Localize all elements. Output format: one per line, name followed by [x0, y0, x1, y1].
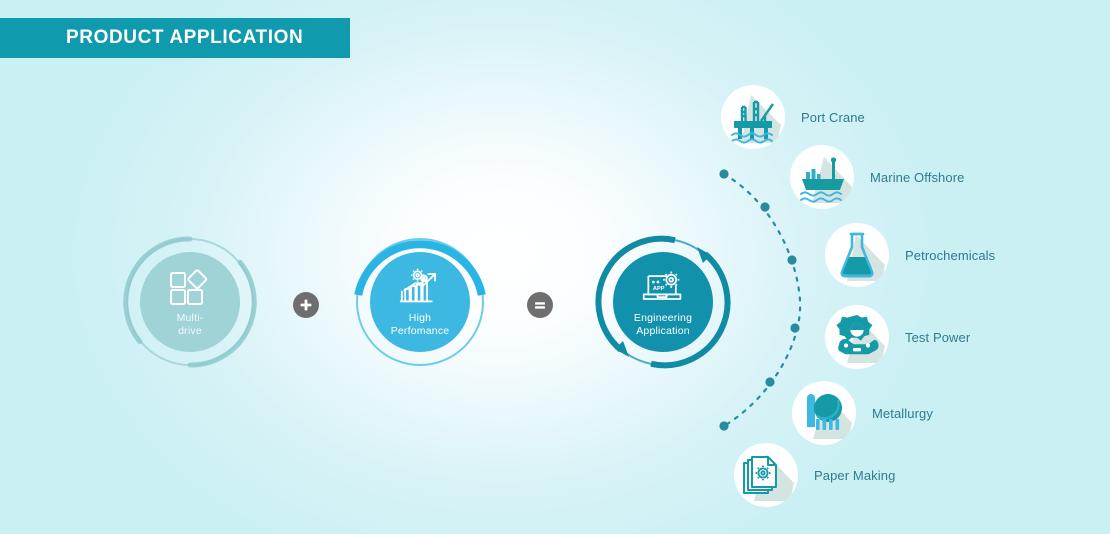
product-application-infographic: PRODUCT APPLICATION Multi- drive: [0, 0, 1110, 534]
disc-engineering-application: APP Engineering Application: [613, 252, 713, 352]
application-label-port-crane: Port Crane: [801, 110, 865, 125]
node-label-multi-drive: Multi- drive: [177, 312, 204, 338]
icon-bubble: [790, 145, 854, 209]
oil-rig-icon: [721, 85, 785, 149]
icon-bubble: [721, 85, 785, 149]
plus-icon: [299, 298, 313, 312]
icon-bubble: [825, 305, 889, 369]
application-label-test-power: Test Power: [905, 330, 970, 345]
flask-icon: [825, 223, 889, 287]
node-label-high-performance: High Perfomance: [391, 312, 450, 338]
application-label-marine-offshore: Marine Offshore: [870, 170, 964, 185]
application-item-test-power[interactable]: Test Power: [825, 305, 970, 369]
application-label-metallurgy: Metallurgy: [872, 406, 933, 421]
icon-bubble: [734, 443, 798, 507]
application-label-petrochemicals: Petrochemicals: [905, 248, 995, 263]
furnace-tank-icon: [792, 381, 856, 445]
equals-icon: [533, 298, 547, 312]
icon-bubble: [825, 223, 889, 287]
application-item-metallurgy[interactable]: Metallurgy: [792, 381, 933, 445]
disc-multi-drive: Multi- drive: [140, 252, 240, 352]
application-item-paper-making[interactable]: Paper Making: [734, 443, 895, 507]
gear-wrench-icon: [825, 305, 889, 369]
application-item-port-crane[interactable]: Port Crane: [721, 85, 865, 149]
laptop-gear-app-icon: APP: [641, 267, 685, 309]
application-item-marine-offshore[interactable]: Marine Offshore: [790, 145, 964, 209]
four-squares-icon: [168, 267, 212, 309]
svg-text:APP: APP: [653, 285, 665, 291]
cargo-ship-icon: [790, 145, 854, 209]
growth-chart-gear-icon: [398, 267, 442, 309]
formula-node-multi-drive[interactable]: Multi- drive: [120, 232, 260, 372]
disc-high-performance: High Perfomance: [370, 252, 470, 352]
operator-plus: [293, 292, 319, 318]
application-item-petrochemicals[interactable]: Petrochemicals: [825, 223, 995, 287]
node-label-engineering-application: Engineering Application: [634, 312, 692, 338]
paper-stack-gear-icon: [734, 443, 798, 507]
page-title: PRODUCT APPLICATION: [66, 27, 303, 49]
operator-equals: [527, 292, 553, 318]
icon-bubble: [792, 381, 856, 445]
formula-node-high-performance[interactable]: High Perfomance: [350, 232, 490, 372]
banner: PRODUCT APPLICATION: [0, 18, 350, 58]
application-label-paper-making: Paper Making: [814, 468, 895, 483]
